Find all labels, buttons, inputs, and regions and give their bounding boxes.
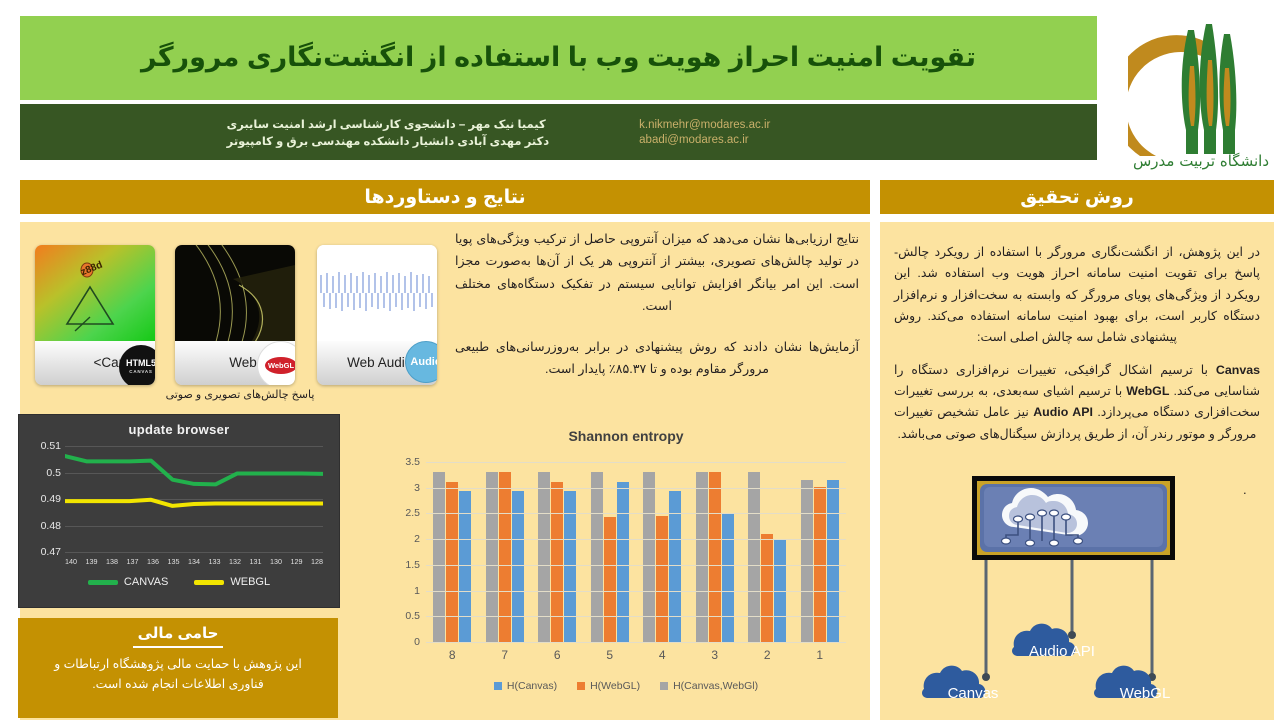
bar-chart-x-tick: 8 (426, 648, 479, 662)
legend-swatch (88, 580, 118, 585)
method-heading-label: روش تحقیق (1020, 186, 1134, 209)
line-chart-plot-area (65, 446, 323, 552)
method-paragraph-2: Canvas با ترسیم اشکال گرافیکی، تغییرات ن… (894, 360, 1260, 445)
authors-banner: k.nikmehr@modares.ac.ir abadi@modares.ac… (20, 104, 1097, 160)
audio-card-footer: Web Audio API Audio (317, 341, 437, 385)
html5-icon: HTML5 CANVAS (119, 345, 155, 385)
poster-title-banner: تقویت امنیت احراز هویت وب با استفاده از … (20, 16, 1097, 100)
line-chart-x-tick: 131 (250, 557, 262, 566)
canvas-card-footer: <Canvas> HTML5 CANVAS (35, 341, 155, 385)
api-card-webgl[interactable]: WebGl API WebGL (175, 245, 295, 385)
results-section-header: نتایج و دستاوردها (20, 180, 870, 214)
diagram-node-webgl: WebGL (1094, 666, 1170, 702)
line-chart-title: update browser (19, 422, 339, 437)
poster-root: تقویت امنیت احراز هویت وب با استفاده از … (0, 0, 1280, 720)
diagram-connector-lines (982, 559, 1156, 681)
bar-chart-bar (656, 516, 668, 642)
line-chart-legend: CANVASWEBGL (19, 576, 339, 588)
line-chart-legend-item: CANVAS (88, 576, 168, 588)
bar-chart-bar (722, 513, 734, 642)
legend-swatch (660, 682, 668, 690)
legend-swatch (194, 580, 224, 585)
bar-chart-legend-item: H(Canvas) (494, 680, 557, 692)
bar-chart-gridline (426, 488, 846, 489)
results-paragraph-2: آزمایش‌ها نشان دادند که روش پیشنهادی در … (455, 336, 859, 381)
bar-chart-legend-item: H(WebGL) (577, 680, 640, 692)
line-chart-x-tick: 133 (209, 557, 221, 566)
bar-chart-gridline (426, 642, 846, 643)
bar-chart-bar (617, 482, 629, 642)
line-chart-x-tick: 129 (291, 557, 303, 566)
legend-swatch (577, 682, 585, 690)
bar-chart-y-label: 2 (386, 533, 420, 545)
line-chart-legend-item: WEBGL (194, 576, 270, 588)
html5-badge-sub: CANVAS (129, 370, 152, 375)
legend-label: WEBGL (230, 576, 270, 588)
bar-chart-bar (801, 480, 813, 643)
email-primary[interactable]: k.nikmehr@modares.ac.ir (639, 119, 770, 131)
bar-chart-gridline (426, 591, 846, 592)
cloud-server-frame (972, 476, 1175, 560)
bar-chart-group (636, 462, 689, 642)
email-secondary[interactable]: abadi@modares.ac.ir (639, 134, 748, 146)
bar-chart-title: Shannon entropy (382, 428, 870, 444)
bar-chart-bar (761, 534, 773, 643)
bar-chart-legend-item: H(Canvas,WebGl) (660, 680, 758, 692)
canvas-thumbnail: z88d (35, 245, 155, 341)
line-chart-x-axis: 128129130131132133134135136137138139140 (65, 557, 323, 566)
bar-chart-x-tick: 3 (689, 648, 742, 662)
bar-chart-legend: H(Canvas)H(WebGL)H(Canvas,WebGl) (382, 680, 870, 692)
author-supervisor: دکتر مهدی آبادی دانشیار دانشکده مهندسی ب… (227, 134, 549, 148)
sponsor-title-underline (133, 646, 223, 648)
bar-chart-y-label: 0 (386, 636, 420, 648)
bar-chart-y-label: 0.5 (386, 610, 420, 622)
shannon-entropy-bar-chart: Shannon entropy 00.511.522.533.5 1234567… (382, 428, 870, 708)
legend-label: CANVAS (124, 576, 168, 588)
bar-chart-x-axis: 12345678 (426, 648, 846, 662)
line-chart-y-label: 0.49 (25, 493, 61, 505)
line-chart-series-webgl (65, 500, 323, 506)
bar-chart-gridline (426, 539, 846, 540)
line-chart-x-tick: 136 (147, 557, 159, 566)
bar-chart-bar (446, 482, 458, 642)
results-body-text: نتایج ارزیابی‌ها نشان می‌دهد که میزان آن… (455, 228, 859, 398)
api-cards-group: z88d <Canvas> HTML5 CANVAS (35, 245, 445, 385)
bar-chart-bar (551, 482, 563, 642)
diagram-node-canvas-label: Canvas (948, 685, 999, 702)
line-chart-x-tick: 132 (229, 557, 241, 566)
bar-chart-gridline (426, 565, 846, 566)
html5-badge-text: HTML5 (126, 359, 155, 368)
results-paragraph-1: نتایج ارزیابی‌ها نشان می‌دهد که میزان آن… (455, 228, 859, 318)
legend-label: H(Canvas,WebGl) (673, 680, 758, 692)
method-term-webgl: WebGL (1126, 384, 1169, 398)
legend-swatch (494, 682, 502, 690)
audio-waveform-thumbnail (317, 245, 437, 341)
method-term-canvas: Canvas (1216, 363, 1260, 377)
results-heading-label: نتایج و دستاوردها (364, 186, 525, 209)
sponsor-title: حامی مالی (18, 624, 338, 642)
line-chart-y-label: 0.51 (25, 440, 61, 452)
legend-label: H(Canvas) (507, 680, 557, 692)
bar-chart-x-tick: 4 (636, 648, 689, 662)
api-cards-caption: پاسخ چالش‌های تصویری و صوتی (35, 388, 445, 401)
bar-chart-y-label: 1 (386, 585, 420, 597)
webgl-thumbnail (175, 245, 295, 341)
bar-chart-y-label: 3 (386, 482, 420, 494)
bar-chart-x-tick: 7 (479, 648, 532, 662)
line-chart-x-tick: 135 (168, 557, 180, 566)
bar-chart-group (794, 462, 847, 642)
line-chart-y-label: 0.47 (25, 546, 61, 558)
line-chart-x-tick: 130 (270, 557, 282, 566)
line-chart-x-tick: 139 (86, 557, 98, 566)
bar-chart-group (584, 462, 637, 642)
bar-chart-group (426, 462, 479, 642)
bar-chart-bar (827, 480, 839, 643)
architecture-diagram: Canvas Audio API WebGL (890, 455, 1274, 720)
line-chart-y-label: 0.5 (25, 467, 61, 479)
line-chart-x-tick: 134 (188, 557, 200, 566)
bar-chart-gridline (426, 616, 846, 617)
bar-chart-x-tick: 1 (794, 648, 847, 662)
update-browser-line-chart: update browser 1281291301311321331341351… (18, 414, 340, 608)
webgl-icon: WebGL (257, 341, 295, 385)
sponsor-box: حامی مالی این پژوهش با حمایت مالی پژوهشگ… (18, 618, 338, 718)
diagram-node-audio-label: Audio API (1029, 643, 1095, 660)
diagram-node-webgl-label: WebGL (1120, 685, 1171, 702)
university-logo: دانشگاه تربیت مدرس (1128, 6, 1274, 172)
sponsor-body: این پژوهش با حمایت مالی پژوهشگاه ارتباطا… (36, 654, 320, 694)
line-chart-series-canvas (65, 456, 323, 484)
bar-chart-y-label: 2.5 (386, 507, 420, 519)
line-chart-x-tick: 140 (65, 557, 77, 566)
webgl-badge-text: WebGL (265, 357, 295, 374)
bar-chart-group (689, 462, 742, 642)
audio-badge-text: Audio (410, 356, 437, 368)
logo-caption: دانشگاه تربیت مدرس (1133, 152, 1269, 170)
bar-chart-y-label: 3.5 (386, 456, 420, 468)
bar-chart-group (531, 462, 584, 642)
audio-icon: Audio (405, 341, 437, 383)
author-names: کیمیا نیک مهر – دانشجوی کارشناسی ارشد ام… (227, 117, 549, 148)
bar-chart-x-tick: 6 (531, 648, 584, 662)
bar-chart-plot-area: 00.511.522.533.5 (426, 462, 846, 643)
bar-chart-gridline (426, 513, 846, 514)
bar-chart-group (479, 462, 532, 642)
line-chart-x-tick: 137 (127, 557, 139, 566)
method-section-header: روش تحقیق (880, 180, 1274, 214)
line-chart-series-svg (65, 446, 323, 552)
method-term-audio: Audio API (1033, 405, 1093, 419)
author-student: کیمیا نیک مهر – دانشجوی کارشناسی ارشد ام… (227, 117, 546, 131)
bar-chart-x-tick: 5 (584, 648, 637, 662)
page-title: تقویت امنیت احراز هویت وب با استفاده از … (141, 41, 976, 75)
line-chart-x-tick: 138 (106, 557, 118, 566)
author-emails: k.nikmehr@modares.ac.ir abadi@modares.ac… (639, 119, 770, 146)
bar-chart-groups (426, 462, 846, 642)
api-card-web-audio[interactable]: Web Audio API Audio (317, 245, 437, 385)
line-chart-x-tick: 128 (311, 557, 323, 566)
legend-label: H(WebGL) (590, 680, 640, 692)
method-body-text: در این پژوهش، از انگشت‌نگاری مرورگر با ا… (894, 242, 1260, 456)
api-card-canvas[interactable]: z88d <Canvas> HTML5 CANVAS (35, 245, 155, 385)
bar-chart-y-label: 1.5 (386, 559, 420, 571)
webgl-card-footer: WebGl API WebGL (175, 341, 295, 385)
bar-chart-gridline (426, 462, 846, 463)
bar-chart-group (741, 462, 794, 642)
bar-chart-bar (604, 517, 616, 642)
line-chart-gridline (65, 552, 323, 553)
method-paragraph-1: در این پژوهش، از انگشت‌نگاری مرورگر با ا… (894, 242, 1260, 349)
diagram-node-audio-api: Audio API (1012, 624, 1095, 660)
line-chart-y-label: 0.48 (25, 520, 61, 532)
bar-chart-x-tick: 2 (741, 648, 794, 662)
